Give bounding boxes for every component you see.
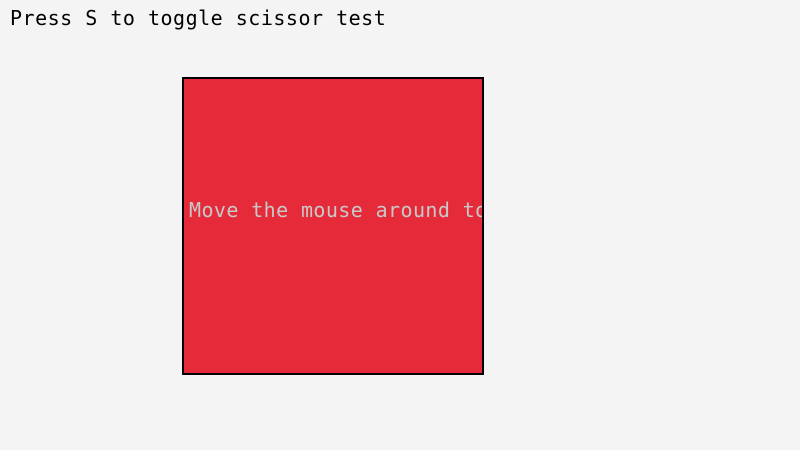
scissor-clipped-message: Move the mouse around to reveal the full…	[189, 198, 484, 222]
raylib-window: Press S to toggle scissor test Move the …	[0, 0, 800, 450]
scissor-rectangle[interactable]: Move the mouse around to reveal the full…	[182, 77, 484, 375]
scissor-toggle-hint: Press S to toggle scissor test	[10, 6, 386, 30]
